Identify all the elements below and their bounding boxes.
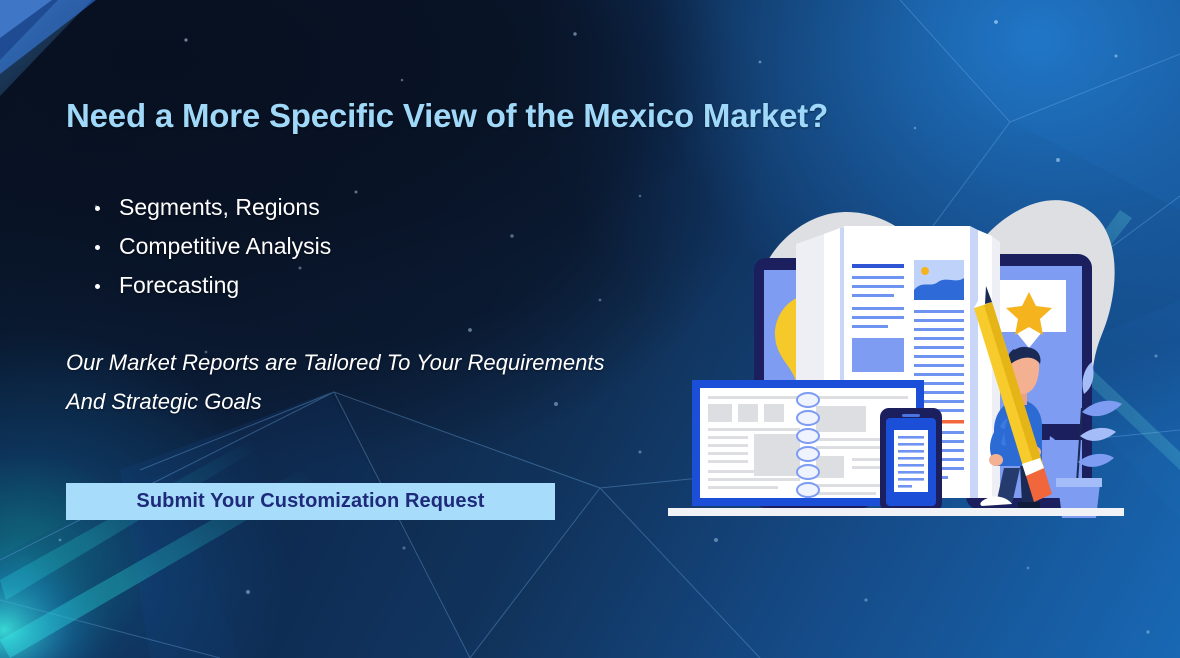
benefits-list: Segments, Regions Competitive Analysis F… (92, 188, 331, 305)
page-title: Need a More Specific View of the Mexico … (66, 97, 828, 135)
market-research-illustration (648, 168, 1132, 540)
text-content: Need a More Specific View of the Mexico … (66, 0, 686, 658)
submit-customization-request-button[interactable]: Submit Your Customization Request (66, 483, 555, 520)
list-item: Segments, Regions (92, 188, 331, 227)
smartphone (880, 408, 942, 512)
list-item: Forecasting (92, 266, 331, 305)
list-item: Competitive Analysis (92, 227, 331, 266)
tagline-text: Our Market Reports are Tailored To Your … (66, 343, 606, 421)
ground-line (668, 508, 1124, 516)
cta-banner: Need a More Specific View of the Mexico … (0, 0, 1180, 658)
